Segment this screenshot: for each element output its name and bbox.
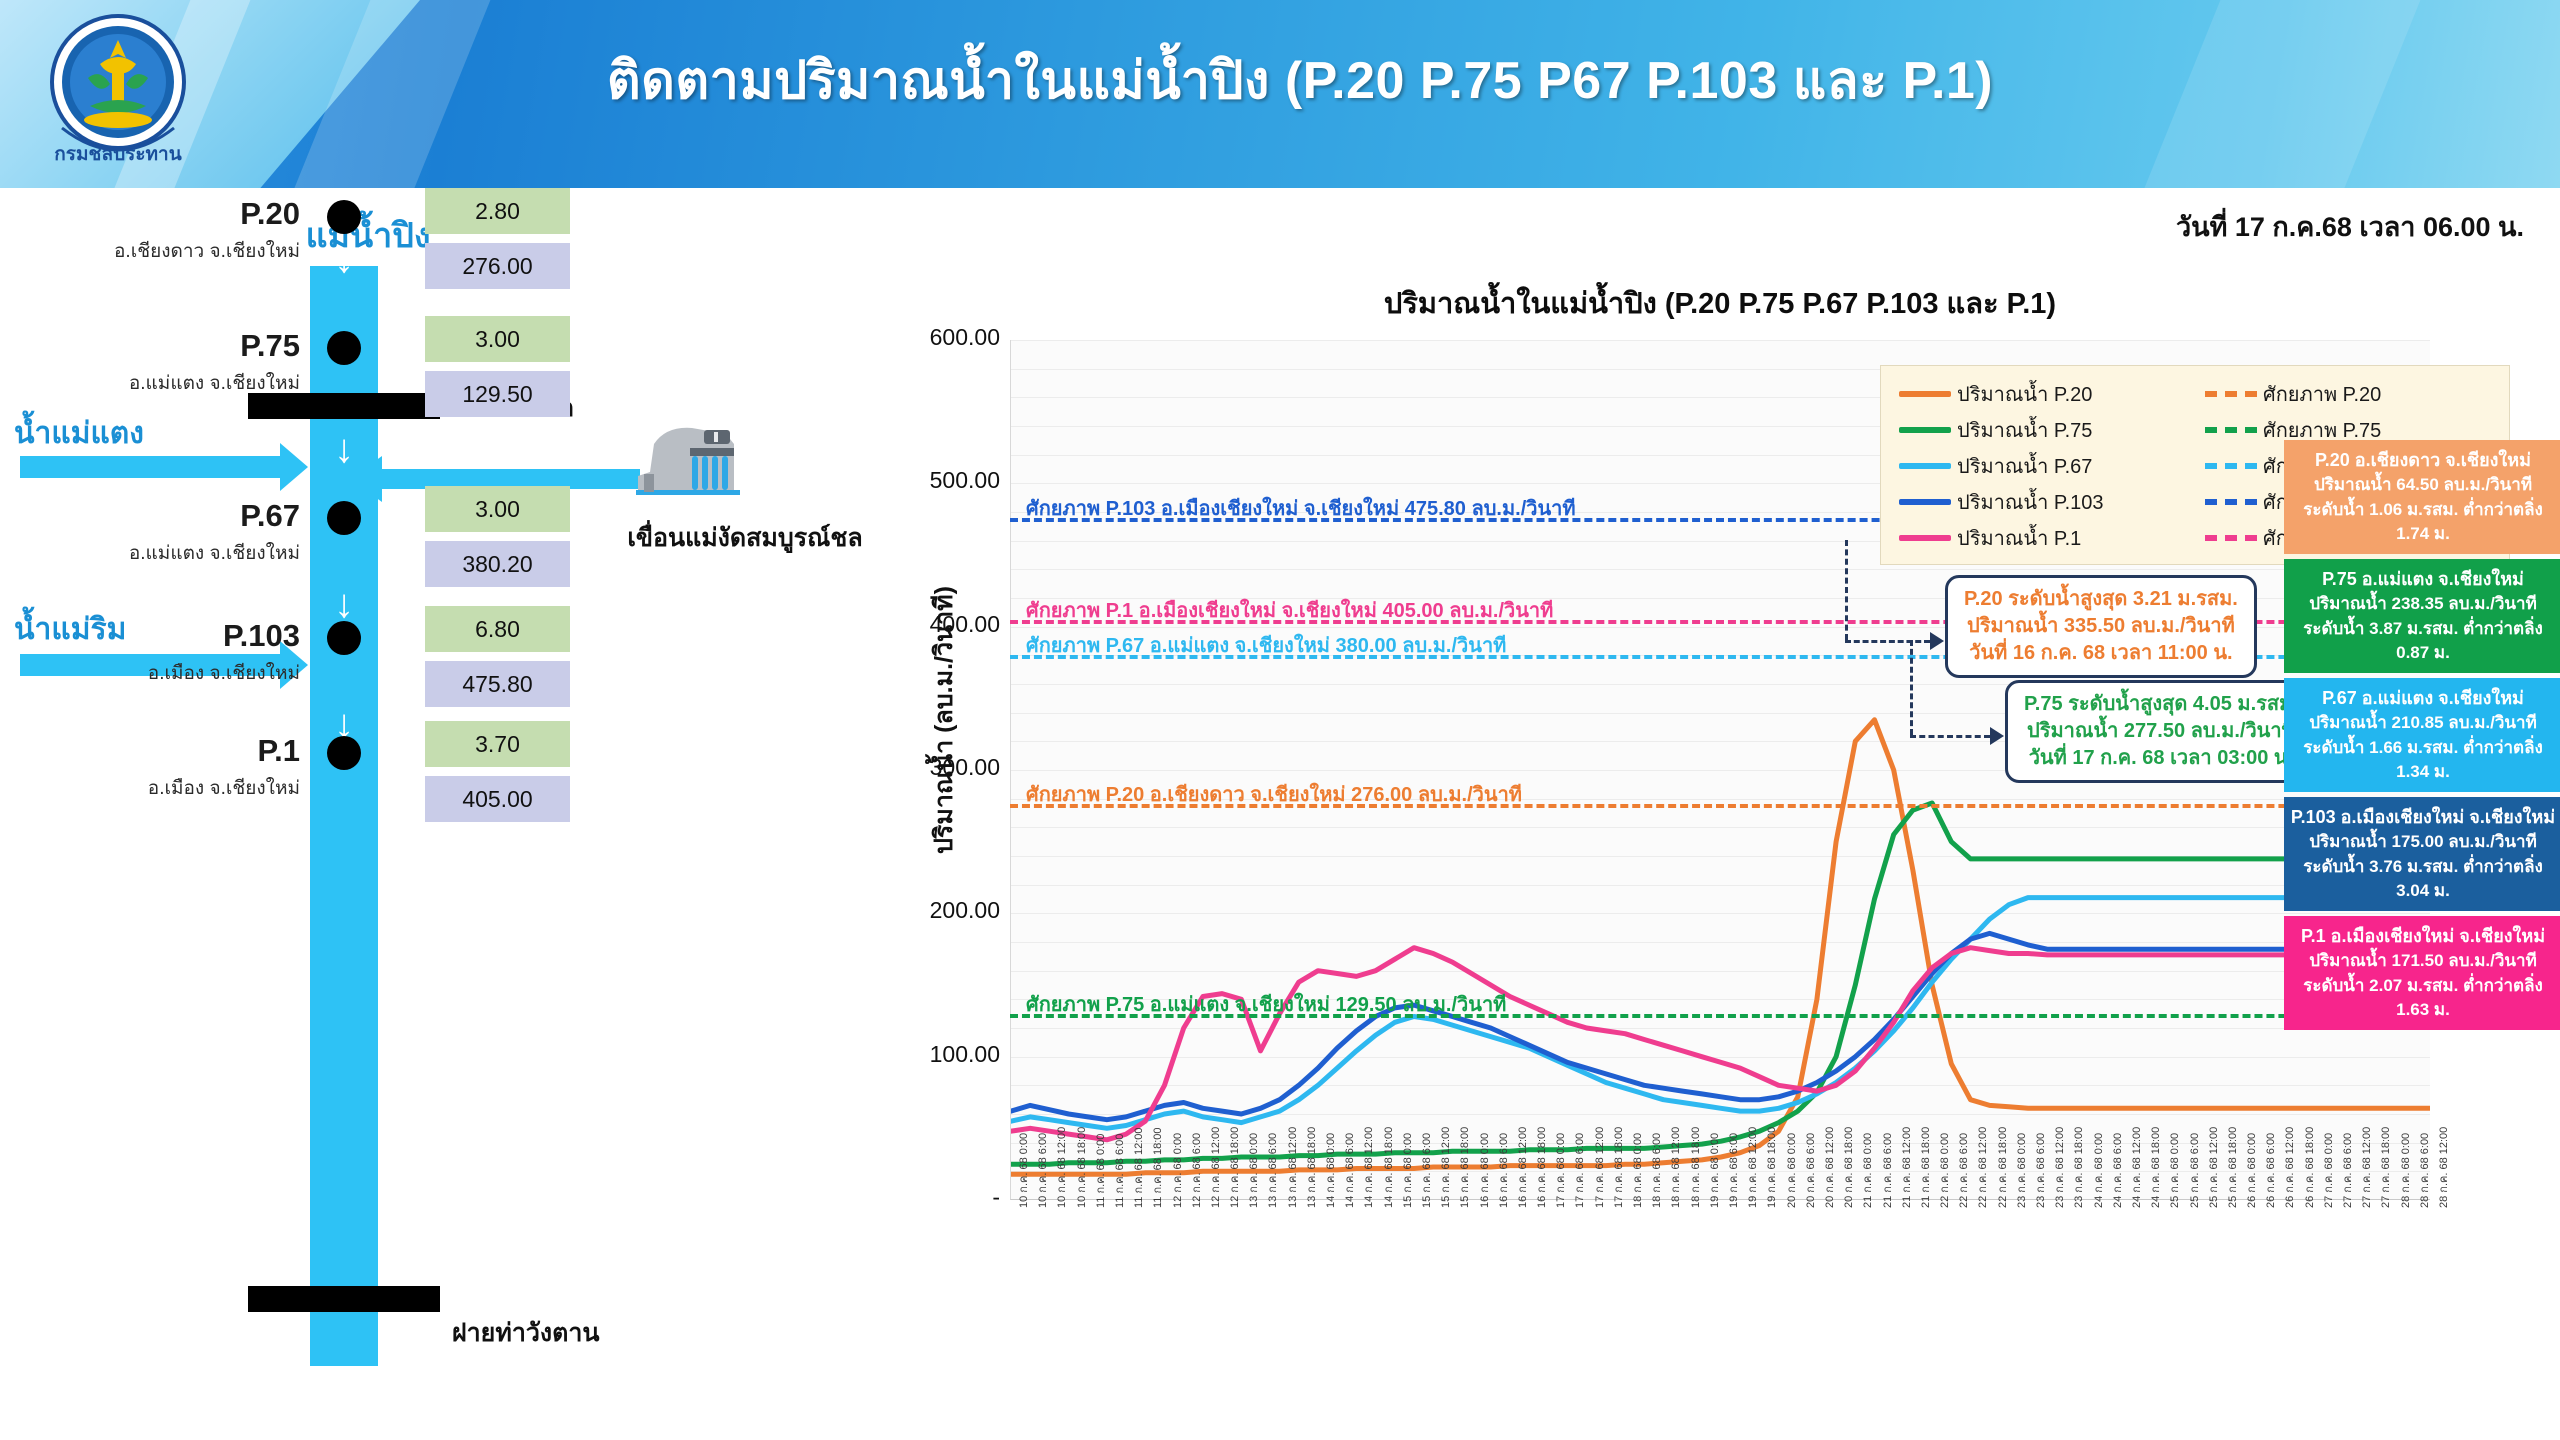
- station-card-cname: P.103 อ.เมืองเชียงใหม่ จ.เชียงใหม่: [2290, 804, 2556, 830]
- chart-x-tick: 23 ก.ค. 68 0:00: [2012, 1133, 2030, 1208]
- station-p103-code: P.103: [10, 618, 300, 654]
- station-card-P.75[interactable]: P.75 อ.แม่แตง จ.เชียงใหม่ปริมาณน้ำ 238.3…: [2284, 559, 2560, 673]
- chart-x-tick: 11 ก.ค. 68 18:00: [1148, 1128, 1166, 1208]
- chart-x-tick: 14 ก.ค. 68 12:00: [1359, 1127, 1377, 1208]
- annotation-leader-horizontal-P.75: [1910, 735, 1990, 738]
- flow-arrow-down-2: ↓: [334, 433, 354, 465]
- annotation-leader-horizontal-P.20: [1845, 640, 1930, 643]
- chart-x-tick: 19 ก.ค. 68 0:00: [1705, 1133, 1723, 1208]
- station-p20-district: อ.เชียงดาว จ.เชียงใหม่: [10, 236, 300, 266]
- station-p1-node: [327, 736, 361, 770]
- chart-x-tick: 26 ก.ค. 68 6:00: [2261, 1133, 2279, 1208]
- chart-x-tick: 26 ก.ค. 68 12:00: [2280, 1127, 2298, 1208]
- chart-x-tick: 27 ก.ค. 68 18:00: [2376, 1127, 2394, 1208]
- chart-x-tick: 12 ก.ค. 68 6:00: [1187, 1133, 1205, 1208]
- flow-arrow-down-1: ↓: [334, 243, 354, 275]
- dam-icon: [630, 418, 750, 510]
- chart-x-tick: 20 ก.ค. 68 18:00: [1839, 1127, 1857, 1208]
- station-card-clevel: ระดับน้ำ 3.87 ม.รสม. ต่ำกว่าตลิ่ง 0.87 ม…: [2290, 617, 2556, 666]
- tributary-mae-taeng-label: น้ำแม่แตง: [14, 410, 144, 457]
- chart-x-tick: 10 ก.ค. 68 12:00: [1052, 1127, 1070, 1208]
- station-card-P.1[interactable]: P.1 อ.เมืองเชียงใหม่ จ.เชียงใหม่ปริมาณน้…: [2284, 916, 2560, 1030]
- legend-item-ปริมาณน้ำ P.103[interactable]: ปริมาณน้ำ P.103: [1889, 486, 2195, 518]
- threshold-label-ศักยภาพ P.20: ศักยภาพ P.20 อ.เชียงดาว จ.เชียงใหม่ 276.…: [1026, 778, 1522, 810]
- chart-x-tick: 27 ก.ค. 68 0:00: [2319, 1133, 2337, 1208]
- annotation-P.20-line1: P.20 ระดับน้ำสูงสุด 3.21 ม.รสม.: [1964, 586, 2238, 613]
- station-card-cname: P.1 อ.เมืองเชียงใหม่ จ.เชียงใหม่: [2290, 923, 2556, 949]
- station-p75-code: P.75: [10, 328, 300, 364]
- chart-x-tick: 16 ก.ค. 68 6:00: [1494, 1133, 1512, 1208]
- chart-x-tick: 22 ก.ค. 68 12:00: [1973, 1127, 1991, 1208]
- chart-x-tick: 23 ก.ค. 68 18:00: [2069, 1127, 2087, 1208]
- chart-x-tick: 15 ก.ค. 68 18:00: [1455, 1127, 1473, 1208]
- annotation-leader-vertical-P.20: [1845, 540, 1848, 640]
- annotation-arrowhead-P.75: [1990, 727, 2004, 745]
- chart-x-axis-ticks: 10 ก.ค. 68 0:0010 ก.ค. 68 6:0010 ก.ค. 68…: [1010, 1208, 2430, 1408]
- station-p20-node: [327, 200, 361, 234]
- legend-item-ปริมาณน้ำ P.1[interactable]: ปริมาณน้ำ P.1: [1889, 522, 2195, 554]
- station-p1-level-value: 3.70: [425, 721, 570, 767]
- station-card-P.67[interactable]: P.67 อ.แม่แตง จ.เชียงใหม่ปริมาณน้ำ 210.8…: [2284, 678, 2560, 792]
- threshold-label-ศักยภาพ P.67: ศักยภาพ P.67 อ.แม่แตง จ.เชียงใหม่ 380.00…: [1026, 629, 1506, 661]
- chart-x-tick: 12 ก.ค. 68 12:00: [1206, 1127, 1224, 1208]
- dam-caption: เขื่อนแม่งัดสมบูรณ์ชล: [580, 518, 910, 558]
- station-card-cname: P.75 อ.แม่แตง จ.เชียงใหม่: [2290, 566, 2556, 592]
- station-card-clevel: ระดับน้ำ 3.76 ม.รสม. ต่ำกว่าตลิ่ง 3.04 ม…: [2290, 855, 2556, 904]
- station-p1-district: อ.เมือง จ.เชียงใหม่: [10, 773, 300, 803]
- legend-swatch-icon: [1899, 499, 1951, 505]
- chart-x-tick: 28 ก.ค. 68 6:00: [2415, 1133, 2433, 1208]
- chart-x-tick: 13 ก.ค. 68 18:00: [1302, 1127, 1320, 1208]
- chart-x-tick: 20 ก.ค. 68 0:00: [1782, 1133, 1800, 1208]
- weir-tha-wang-tan-label: ฝายท่าวังตาน: [452, 1313, 599, 1353]
- threshold-label-ศักยภาพ P.103: ศักยภาพ P.103 อ.เมืองเชียงใหม่ จ.เชียงให…: [1026, 492, 1576, 524]
- station-p67-capacity-value: 380.20: [425, 541, 570, 587]
- chart-x-tick: 24 ก.ค. 68 0:00: [2089, 1133, 2107, 1208]
- chart-x-tick: 26 ก.ค. 68 0:00: [2242, 1133, 2260, 1208]
- station-card-cflow: ปริมาณน้ำ 210.85 ลบ.ม./วินาที: [2290, 711, 2556, 736]
- chart-x-tick: 18 ก.ค. 68 12:00: [1666, 1127, 1684, 1208]
- station-p1-capacity-value: 405.00: [425, 776, 570, 822]
- weir-tha-wang-tan: [248, 1286, 440, 1312]
- legend-item-ศักยภาพ P.20[interactable]: ศักยภาพ P.20: [2195, 378, 2501, 410]
- annotation-P.75: P.75 ระดับน้ำสูงสุด 4.05 ม.รสม.ปริมาณน้ำ…: [2005, 680, 2317, 783]
- chart-x-tick: 23 ก.ค. 68 12:00: [2050, 1127, 2068, 1208]
- station-card-clevel: ระดับน้ำ 2.07 ม.รสม. ต่ำกว่าตลิ่ง 1.63 ม…: [2290, 974, 2556, 1023]
- chart-x-tick: 16 ก.ค. 68 18:00: [1532, 1127, 1550, 1208]
- annotation-P.75-line3: วันที่ 17 ก.ค. 68 เวลา 03:00 น.: [2024, 745, 2298, 772]
- chart-x-tick: 17 ก.ค. 68 0:00: [1551, 1133, 1569, 1208]
- chart-x-tick: 15 ก.ค. 68 6:00: [1417, 1133, 1435, 1208]
- station-card-clevel: ระดับน้ำ 1.06 ม.รสม. ต่ำกว่าตลิ่ง 1.74 ม…: [2290, 498, 2556, 547]
- chart-x-tick: 10 ก.ค. 68 18:00: [1072, 1127, 1090, 1208]
- chart-x-tick: 12 ก.ค. 68 0:00: [1168, 1133, 1186, 1208]
- chart-x-tick: 25 ก.ค. 68 18:00: [2223, 1127, 2241, 1208]
- annotation-P.20-line2: ปริมาณน้ำ 335.50 ลบ.ม./วินาที: [1964, 613, 2238, 640]
- page-header: กรมชลประทาน ติดตามปริมาณน้ำในแม่น้ำปิง (…: [0, 0, 2560, 188]
- chart-x-tick: 21 ก.ค. 68 18:00: [1916, 1127, 1934, 1208]
- chart-x-tick: 10 ก.ค. 68 0:00: [1014, 1133, 1032, 1208]
- chart-x-tick: 11 ก.ค. 68 6:00: [1110, 1134, 1128, 1208]
- chart-x-tick: 19 ก.ค. 68 18:00: [1762, 1127, 1780, 1208]
- chart-x-tick: 16 ก.ค. 68 12:00: [1513, 1127, 1531, 1208]
- chart-x-tick: 17 ก.ค. 68 18:00: [1609, 1127, 1627, 1208]
- chart-x-tick: 14 ก.ค. 68 18:00: [1379, 1127, 1397, 1208]
- water-volume-chart: ปริมาณน้ำในแม่น้ำปิง (P.20 P.75 P.67 P.1…: [880, 280, 2560, 1440]
- legend-swatch-icon: [2205, 463, 2257, 469]
- station-p75-capacity-value: 129.50: [425, 371, 570, 417]
- chart-x-tick: 10 ก.ค. 68 6:00: [1033, 1133, 1051, 1208]
- station-p103-level-value: 6.80: [425, 606, 570, 652]
- chart-x-tick: 14 ก.ค. 68 6:00: [1340, 1133, 1358, 1208]
- chart-x-tick: 17 ก.ค. 68 12:00: [1590, 1127, 1608, 1208]
- station-card-P.103[interactable]: P.103 อ.เมืองเชียงใหม่ จ.เชียงใหม่ปริมาณ…: [2284, 797, 2560, 911]
- station-card-cflow: ปริมาณน้ำ 175.00 ลบ.ม./วินาที: [2290, 830, 2556, 855]
- station-card-cflow: ปริมาณน้ำ 171.50 ลบ.ม./วินาที: [2290, 949, 2556, 974]
- threshold-label-ศักยภาพ P.1: ศักยภาพ P.1 อ.เมืองเชียงใหม่ จ.เชียงใหม่…: [1026, 594, 1553, 626]
- station-p20-capacity-value: 276.00: [425, 243, 570, 289]
- annotation-arrowhead-P.20: [1930, 632, 1944, 650]
- legend-label: ปริมาณน้ำ P.1: [1957, 522, 2081, 554]
- legend-swatch-icon: [2205, 391, 2257, 397]
- station-card-cflow: ปริมาณน้ำ 238.35 ลบ.ม./วินาที: [2290, 592, 2556, 617]
- chart-x-tick: 13 ก.ค. 68 12:00: [1283, 1127, 1301, 1208]
- report-datestamp: วันที่ 17 ก.ค.68 เวลา 06.00 น.: [2176, 205, 2524, 248]
- legend-item-ปริมาณน้ำ P.20[interactable]: ปริมาณน้ำ P.20: [1889, 378, 2195, 410]
- chart-x-tick: 25 ก.ค. 68 12:00: [2204, 1127, 2222, 1208]
- chart-x-tick: 19 ก.ค. 68 12:00: [1743, 1127, 1761, 1208]
- station-p20-level-value: 2.80: [425, 188, 570, 234]
- station-p67-level-value: 3.00: [425, 486, 570, 532]
- chart-x-tick: 15 ก.ค. 68 0:00: [1398, 1133, 1416, 1208]
- chart-y-tick: 200.00: [880, 897, 1000, 924]
- station-p103-district: อ.เมือง จ.เชียงใหม่: [10, 658, 300, 688]
- chart-x-tick: 19 ก.ค. 68 6:00: [1724, 1133, 1742, 1208]
- station-card-P.20[interactable]: P.20 อ.เชียงดาว จ.เชียงใหม่ปริมาณน้ำ 64.…: [2284, 440, 2560, 554]
- legend-swatch-icon: [2205, 535, 2257, 541]
- chart-x-tick: 24 ก.ค. 68 18:00: [2146, 1127, 2164, 1208]
- station-card-cflow: ปริมาณน้ำ 64.50 ลบ.ม./วินาที: [2290, 473, 2556, 498]
- chart-x-tick: 27 ก.ค. 68 6:00: [2338, 1133, 2356, 1208]
- chart-x-tick: 25 ก.ค. 68 6:00: [2185, 1133, 2203, 1208]
- legend-swatch-icon: [1899, 463, 1951, 469]
- chart-x-tick: 15 ก.ค. 68 12:00: [1436, 1127, 1454, 1208]
- chart-x-tick: 21 ก.ค. 68 0:00: [1858, 1133, 1876, 1208]
- legend-swatch-icon: [1899, 427, 1951, 433]
- legend-swatch-icon: [2205, 427, 2257, 433]
- chart-y-tick: -: [880, 1184, 1000, 1211]
- station-card-clevel: ระดับน้ำ 1.66 ม.รสม. ต่ำกว่าตลิ่ง 1.34 ม…: [2290, 736, 2556, 785]
- chart-series-ปริมาณน้ำ P.103: [1011, 933, 2430, 1119]
- chart-x-tick: 24 ก.ค. 68 6:00: [2108, 1133, 2126, 1208]
- legend-swatch-icon: [2205, 499, 2257, 505]
- chart-x-tick: 16 ก.ค. 68 0:00: [1475, 1133, 1493, 1208]
- station-p67-district: อ.แม่แตง จ.เชียงใหม่: [10, 538, 300, 568]
- station-p103-capacity-value: 475.80: [425, 661, 570, 707]
- station-p75-level-value: 3.00: [425, 316, 570, 362]
- annotation-P.20: P.20 ระดับน้ำสูงสุด 3.21 ม.รสม.ปริมาณน้ำ…: [1945, 575, 2257, 678]
- chart-x-tick: 26 ก.ค. 68 18:00: [2300, 1127, 2318, 1208]
- chart-x-tick: 22 ก.ค. 68 6:00: [1954, 1133, 1972, 1208]
- legend-label: ปริมาณน้ำ P.67: [1957, 450, 2092, 482]
- flow-arrow-down-3: ↓: [334, 588, 354, 620]
- chart-x-tick: 21 ก.ค. 68 6:00: [1878, 1133, 1896, 1208]
- chart-x-tick: 20 ก.ค. 68 12:00: [1820, 1127, 1838, 1208]
- chart-x-tick: 22 ก.ค. 68 0:00: [1935, 1133, 1953, 1208]
- royal-irrigation-department-seal-icon: กรมชลประทาน: [38, 8, 198, 176]
- station-p103-node: [327, 621, 361, 655]
- page-title: ติดตามปริมาณน้ำในแม่น้ำปิง (P.20 P.75 P6…: [400, 38, 2200, 121]
- station-info-cards: P.20 อ.เชียงดาว จ.เชียงใหม่ปริมาณน้ำ 64.…: [2284, 440, 2560, 1035]
- chart-y-tick: 400.00: [880, 611, 1000, 638]
- legend-label: ปริมาณน้ำ P.20: [1957, 378, 2092, 410]
- river-schematic: แม่น้ำปิง เขื่อนแม่งัดสมบูรณ์ชล ฝายแม่แฝ…: [0, 188, 900, 1440]
- chart-x-tick: 11 ก.ค. 68 12:00: [1129, 1128, 1147, 1208]
- annotation-leader-vertical-P.75: [1910, 640, 1913, 735]
- chart-x-tick: 28 ก.ค. 68 0:00: [2396, 1133, 2414, 1208]
- chart-x-tick: 17 ก.ค. 68 6:00: [1570, 1133, 1588, 1208]
- chart-x-tick: 20 ก.ค. 68 6:00: [1801, 1133, 1819, 1208]
- chart-x-tick: 13 ก.ค. 68 0:00: [1244, 1133, 1262, 1208]
- chart-x-tick: 12 ก.ค. 68 18:00: [1225, 1127, 1243, 1208]
- station-p75-district: อ.แม่แตง จ.เชียงใหม่: [10, 368, 300, 398]
- station-p75-node: [327, 331, 361, 365]
- tributary-mae-taeng-arrow-icon: [20, 456, 282, 478]
- annotation-P.75-line1: P.75 ระดับน้ำสูงสุด 4.05 ม.รสม.: [2024, 691, 2298, 718]
- legend-swatch-icon: [1899, 535, 1951, 541]
- chart-x-tick: 21 ก.ค. 68 12:00: [1897, 1127, 1915, 1208]
- chart-x-tick: 11 ก.ค. 68 0:00: [1091, 1134, 1109, 1208]
- chart-x-tick: 28 ก.ค. 68 12:00: [2434, 1127, 2452, 1208]
- chart-x-tick: 18 ก.ค. 68 0:00: [1628, 1133, 1646, 1208]
- chart-y-tick: 300.00: [880, 754, 1000, 781]
- chart-y-tick: 500.00: [880, 467, 1000, 494]
- chart-y-tick: 600.00: [880, 324, 1000, 351]
- threshold-label-ศักยภาพ P.75: ศักยภาพ P.75 อ.แม่แตง จ.เชียงใหม่ 129.50…: [1026, 988, 1506, 1020]
- legend-swatch-icon: [1899, 391, 1951, 397]
- station-p20-code: P.20: [10, 196, 300, 232]
- svg-text:กรมชลประทาน: กรมชลประทาน: [54, 144, 181, 165]
- station-p1-code: P.1: [10, 733, 300, 769]
- chart-x-tick: 13 ก.ค. 68 6:00: [1263, 1133, 1281, 1208]
- legend-item-ปริมาณน้ำ P.75[interactable]: ปริมาณน้ำ P.75: [1889, 414, 2195, 446]
- chart-x-tick: 25 ก.ค. 68 0:00: [2165, 1133, 2183, 1208]
- chart-title: ปริมาณน้ำในแม่น้ำปิง (P.20 P.75 P.67 P.1…: [880, 280, 2560, 326]
- station-card-cname: P.20 อ.เชียงดาว จ.เชียงใหม่: [2290, 447, 2556, 473]
- chart-x-tick: 23 ก.ค. 68 6:00: [2031, 1133, 2049, 1208]
- legend-label: ปริมาณน้ำ P.103: [1957, 486, 2104, 518]
- legend-label: ปริมาณน้ำ P.75: [1957, 414, 2092, 446]
- annotation-P.75-line2: ปริมาณน้ำ 277.50 ลบ.ม./วินาที: [2024, 718, 2298, 745]
- legend-label: ศักยภาพ P.20: [2263, 378, 2381, 410]
- chart-x-tick: 24 ก.ค. 68 12:00: [2127, 1127, 2145, 1208]
- station-p67-code: P.67: [10, 498, 300, 534]
- station-card-cname: P.67 อ.แม่แตง จ.เชียงใหม่: [2290, 685, 2556, 711]
- annotation-P.20-line3: วันที่ 16 ก.ค. 68 เวลา 11:00 น.: [1964, 640, 2238, 667]
- legend-item-ปริมาณน้ำ P.67[interactable]: ปริมาณน้ำ P.67: [1889, 450, 2195, 482]
- station-p67-node: [327, 501, 361, 535]
- chart-x-tick: 14 ก.ค. 68 0:00: [1321, 1133, 1339, 1208]
- chart-x-tick: 18 ก.ค. 68 18:00: [1686, 1127, 1704, 1208]
- chart-x-tick: 18 ก.ค. 68 6:00: [1647, 1133, 1665, 1208]
- chart-y-tick: 100.00: [880, 1041, 1000, 1068]
- chart-x-tick: 22 ก.ค. 68 18:00: [1993, 1127, 2011, 1208]
- chart-x-tick: 27 ก.ค. 68 12:00: [2357, 1127, 2375, 1208]
